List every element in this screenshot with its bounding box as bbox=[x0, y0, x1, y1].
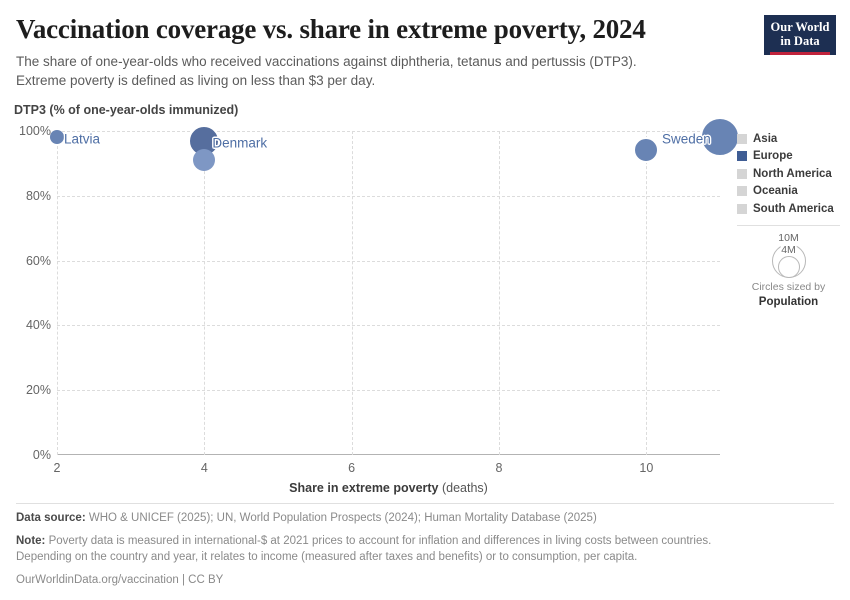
legend-item-label: North America bbox=[753, 168, 832, 180]
legend-item-asia[interactable]: Asia bbox=[737, 130, 847, 148]
size-legend: 10M 4M Circles sized by Population bbox=[737, 230, 840, 310]
x-gridline bbox=[57, 131, 58, 455]
chart-header: Vaccination coverage vs. share in extrem… bbox=[16, 14, 746, 90]
y-gridline bbox=[57, 196, 720, 197]
our-world-in-data-logo[interactable]: Our World in Data bbox=[764, 15, 836, 55]
chart-subtitle-line-2: Extreme poverty is defined as living on … bbox=[16, 72, 716, 91]
size-circle-inner bbox=[778, 256, 800, 278]
x-axis-tick-label: 8 bbox=[496, 461, 503, 475]
data-point-latvia[interactable] bbox=[50, 130, 64, 144]
legend-item-oceania[interactable]: Oceania bbox=[737, 183, 847, 201]
size-legend-inner-label: 4M bbox=[780, 244, 797, 256]
scatter-chart: DTP3 (% of one-year-olds immunized) Shar… bbox=[0, 100, 850, 500]
footer-note-row: Note: Poverty data is measured in intern… bbox=[16, 533, 834, 566]
legend-swatch-icon bbox=[737, 186, 747, 196]
legend-item-south-america[interactable]: South America bbox=[737, 200, 847, 218]
y-gridline bbox=[57, 390, 720, 391]
size-legend-outer-label: 10M bbox=[777, 232, 799, 244]
footer-note-text-line-1: Poverty data is measured in internationa… bbox=[49, 535, 712, 547]
x-axis-title: Share in extreme poverty (deaths) bbox=[57, 481, 720, 495]
legend-swatch-icon bbox=[737, 151, 747, 161]
y-gridline bbox=[57, 131, 720, 132]
y-axis-tick-label: 60% bbox=[26, 254, 51, 268]
logo-line-1: Our World bbox=[770, 20, 830, 34]
x-gridline bbox=[352, 131, 353, 455]
legend-item-label: Asia bbox=[753, 133, 777, 145]
plot-area[interactable]: Share in extreme poverty (deaths) 0%20%4… bbox=[57, 131, 720, 455]
data-point[interactable] bbox=[633, 137, 659, 163]
footer-link[interactable]: OurWorldinData.org/vaccination | CC BY bbox=[16, 572, 834, 589]
data-point-label: Sweden bbox=[662, 132, 711, 147]
size-legend-caption-line-2: Population bbox=[759, 296, 818, 308]
x-gridline bbox=[204, 131, 205, 455]
x-gridline bbox=[499, 131, 500, 455]
footer-note-text-line-2: Depending on the country and year, it re… bbox=[16, 549, 834, 566]
x-axis-title-unit: (deaths) bbox=[439, 481, 488, 495]
legend-item-north-america[interactable]: North America bbox=[737, 165, 847, 183]
y-axis-tick-label: 80% bbox=[26, 189, 51, 203]
size-legend-caption-line-1: Circles sized by bbox=[737, 281, 840, 295]
logo-line-2: in Data bbox=[770, 34, 830, 48]
legend-item-label: South America bbox=[753, 203, 834, 215]
y-gridline bbox=[57, 325, 720, 326]
y-gridline bbox=[57, 261, 720, 262]
legend-item-label: Europe bbox=[753, 150, 793, 162]
size-legend-circles: 10M 4M bbox=[737, 230, 840, 278]
chart-subtitle: The share of one-year-olds who received … bbox=[16, 53, 716, 90]
x-axis-line bbox=[57, 454, 720, 455]
data-point-label: Denmark bbox=[212, 135, 267, 150]
footer-divider bbox=[16, 503, 834, 504]
x-axis-tick-label: 4 bbox=[201, 461, 208, 475]
x-gridline bbox=[646, 131, 647, 455]
page-title: Vaccination coverage vs. share in extrem… bbox=[16, 14, 746, 45]
y-axis-tick-label: 40% bbox=[26, 318, 51, 332]
footer-note-label: Note: bbox=[16, 535, 45, 547]
logo-red-bar bbox=[770, 52, 830, 55]
footer-source-row: Data source: WHO & UNICEF (2025); UN, Wo… bbox=[16, 510, 834, 527]
x-axis-tick-label: 2 bbox=[54, 461, 61, 475]
x-axis-title-main: Share in extreme poverty bbox=[289, 481, 438, 495]
y-axis-tick-label: 0% bbox=[33, 448, 51, 462]
footer-source-text: WHO & UNICEF (2025); UN, World Populatio… bbox=[89, 512, 597, 524]
chart-footer: Data source: WHO & UNICEF (2025); UN, Wo… bbox=[16, 510, 834, 595]
legend-swatch-icon bbox=[737, 134, 747, 144]
size-legend-caption: Circles sized by Population bbox=[737, 281, 840, 310]
x-axis-tick-label: 6 bbox=[348, 461, 355, 475]
data-point[interactable] bbox=[193, 149, 215, 171]
legend-divider bbox=[737, 225, 840, 226]
chart-subtitle-line-1: The share of one-year-olds who received … bbox=[16, 53, 716, 72]
legend-swatch-icon bbox=[737, 169, 747, 179]
x-axis-tick-label: 10 bbox=[639, 461, 653, 475]
footer-source-label: Data source: bbox=[16, 512, 86, 524]
y-axis-tick-label: 100% bbox=[19, 124, 51, 138]
y-axis-tick-label: 20% bbox=[26, 383, 51, 397]
legend-item-europe[interactable]: Europe bbox=[737, 148, 847, 166]
legend-item-label: Oceania bbox=[753, 185, 798, 197]
legend-swatch-icon bbox=[737, 204, 747, 214]
y-axis-title: DTP3 (% of one-year-olds immunized) bbox=[14, 103, 238, 117]
data-point-label: Latvia bbox=[64, 132, 100, 147]
continent-legend: AsiaEuropeNorth AmericaOceaniaSouth Amer… bbox=[737, 130, 847, 218]
